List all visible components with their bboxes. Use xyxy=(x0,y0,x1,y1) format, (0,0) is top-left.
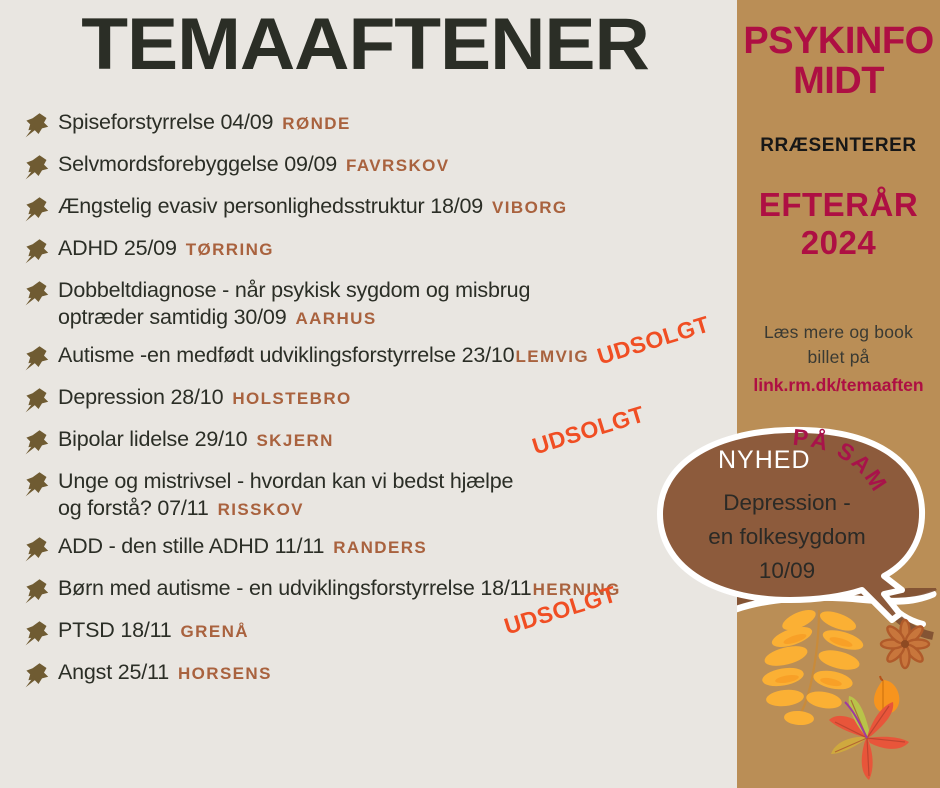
list-item[interactable]: Angst 25/11HORSENS xyxy=(22,658,742,690)
list-item[interactable]: Børn med autisme - en udviklingsforstyrr… xyxy=(22,574,742,606)
season-line-1: EFTERÅR xyxy=(737,186,940,224)
event-location: LEMVIG xyxy=(515,347,589,366)
event-title: ADD - den stille ADHD 11/11 xyxy=(58,534,324,558)
event-title: Børn med autisme - en udviklingsforstyrr… xyxy=(58,576,532,600)
booking-line-2: billet på xyxy=(737,345,940,370)
pushpin-icon xyxy=(22,152,52,182)
pushpin-icon xyxy=(22,576,52,606)
event-title: Dobbeltdiagnose - når psykisk sygdom og … xyxy=(58,278,530,302)
season-title: EFTERÅR 2024 xyxy=(737,186,940,262)
event-location: FAVRSKOV xyxy=(346,156,449,175)
event-location: HORSENS xyxy=(178,664,272,683)
event-title: PTSD 18/11 xyxy=(58,618,172,642)
presents-label: RRÆSENTERER xyxy=(737,135,940,157)
event-location: VIBORG xyxy=(492,198,567,217)
list-item[interactable]: ADD - den stille ADHD 11/11RANDERS xyxy=(22,532,742,564)
pushpin-icon xyxy=(22,194,52,224)
event-text: Depression 28/10HOLSTEBRO xyxy=(58,383,352,411)
brand-line-1: PSYKINFO xyxy=(737,22,940,62)
list-item[interactable]: Spiseforstyrrelse 04/09RØNDE xyxy=(22,108,742,140)
event-text: PTSD 18/11GRENÅ xyxy=(58,616,249,644)
event-text: ADHD 25/09TØRRING xyxy=(58,234,274,262)
brand-line-2: MIDT xyxy=(737,62,940,102)
news-speech-bubble[interactable] xyxy=(648,418,940,648)
season-line-2: 2024 xyxy=(737,224,940,262)
pushpin-icon xyxy=(22,343,52,373)
list-item[interactable]: Selvmordsforebyggelse 09/09FAVRSKOV xyxy=(22,150,742,182)
event-title: Autisme -en medfødt udviklingsforstyrrel… xyxy=(58,343,514,367)
event-text: Selvmordsforebyggelse 09/09FAVRSKOV xyxy=(58,150,450,178)
event-title: Spiseforstyrrelse 04/09 xyxy=(58,110,273,134)
pushpin-icon xyxy=(22,660,52,690)
poster-canvas: TEMAAFTENER Spiseforstyrrelse 04/09RØNDE xyxy=(0,0,940,788)
event-title: Bipolar lidelse 29/10 xyxy=(58,427,247,451)
event-text: Bipolar lidelse 29/10SKJERN xyxy=(58,425,334,453)
pushpin-icon xyxy=(22,534,52,564)
event-text: ADD - den stille ADHD 11/11RANDERS xyxy=(58,532,427,560)
list-item[interactable]: Ængstelig evasiv personlighedsstruktur 1… xyxy=(22,192,742,224)
event-title: Selvmordsforebyggelse 09/09 xyxy=(58,152,337,176)
event-location: GRENÅ xyxy=(181,622,249,641)
event-location: TØRRING xyxy=(186,240,274,259)
event-location: RISSKOV xyxy=(218,500,304,519)
event-location: RANDERS xyxy=(333,538,427,557)
event-title: Unge og mistrivsel - hvordan kan vi beds… xyxy=(58,469,513,493)
event-title-line2: og forstå? 07/11RISSKOV xyxy=(58,495,513,522)
pushpin-icon xyxy=(22,618,52,648)
pushpin-icon xyxy=(22,385,52,415)
event-location: RØNDE xyxy=(282,114,350,133)
event-title-line2-text: optræder samtidig 30/09 xyxy=(58,305,286,329)
event-text: Spiseforstyrrelse 04/09RØNDE xyxy=(58,108,351,136)
event-title: Depression 28/10 xyxy=(58,385,223,409)
event-text: Dobbeltdiagnose - når psykisk sygdom og … xyxy=(58,276,530,331)
list-item[interactable]: PTSD 18/11GRENÅ xyxy=(22,616,742,648)
event-title: ADHD 25/09 xyxy=(58,236,177,260)
brand-title: PSYKINFO MIDT xyxy=(737,22,940,102)
event-text: Autisme -en medfødt udviklingsforstyrrel… xyxy=(58,341,589,369)
event-location: AARHUS xyxy=(295,309,376,328)
event-title: Ængstelig evasiv personlighedsstruktur 1… xyxy=(58,194,483,218)
event-title-line2: optræder samtidig 30/09AARHUS xyxy=(58,304,530,331)
event-text: Børn med autisme - en udviklingsforstyrr… xyxy=(58,574,621,602)
booking-line-1: Læs mere og book xyxy=(737,320,940,345)
event-text: Ængstelig evasiv personlighedsstruktur 1… xyxy=(58,192,568,220)
event-title: Angst 25/11 xyxy=(58,660,169,684)
pushpin-icon xyxy=(22,236,52,266)
pushpin-icon xyxy=(22,278,52,308)
event-text: Unge og mistrivsel - hvordan kan vi beds… xyxy=(58,467,513,522)
event-title-line2-text: og forstå? 07/11 xyxy=(58,496,209,520)
pushpin-icon xyxy=(22,469,52,499)
list-item[interactable]: Unge og mistrivsel - hvordan kan vi beds… xyxy=(22,467,742,522)
page-title: TEMAAFTENER xyxy=(0,8,748,81)
list-item[interactable]: ADHD 25/09TØRRING xyxy=(22,234,742,266)
booking-link[interactable]: link.rm.dk/temaaften xyxy=(737,373,940,398)
pushpin-icon xyxy=(22,427,52,457)
list-item[interactable]: Dobbeltdiagnose - når psykisk sygdom og … xyxy=(22,276,742,331)
booking-info: Læs mere og book billet på link.rm.dk/te… xyxy=(737,320,940,398)
event-location: SKJERN xyxy=(256,431,333,450)
event-location: HOLSTEBRO xyxy=(232,389,351,408)
pushpin-icon xyxy=(22,110,52,140)
event-text: Angst 25/11HORSENS xyxy=(58,658,272,686)
